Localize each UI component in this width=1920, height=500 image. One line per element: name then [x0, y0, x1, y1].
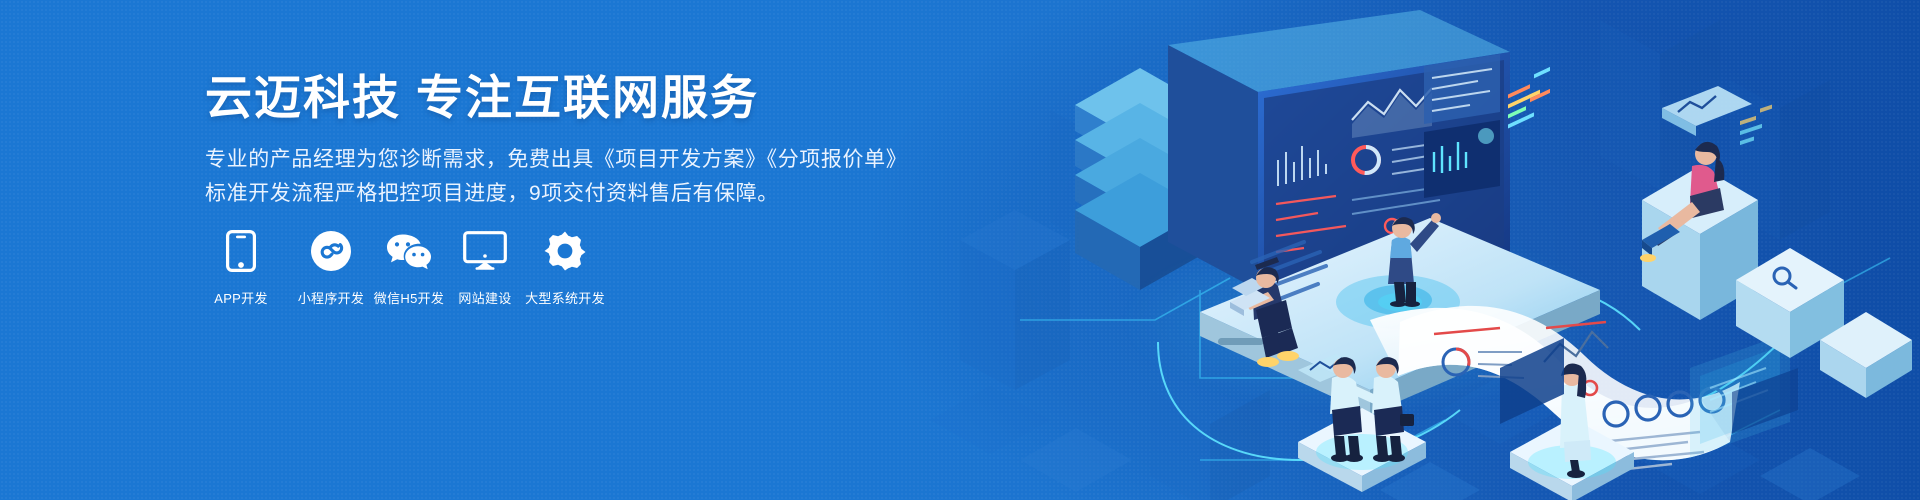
hero-illustration	[900, 0, 1920, 500]
subtitle-line-2: 标准开发流程严格把控项目进度，9项交付资料售后有保障。	[205, 177, 905, 211]
screen-list-card	[1424, 54, 1500, 124]
service-label: 微信H5开发	[374, 288, 444, 307]
service-item-wechat[interactable]: 微信H5开发	[373, 228, 445, 307]
mobile-phone-icon	[226, 228, 256, 274]
service-item-app[interactable]: APP开发	[205, 228, 277, 307]
hero-banner: 云迈科技 专注互联网服务 专业的产品经理为您诊断需求，免费出具《项目开发方案》《…	[0, 0, 1920, 500]
gear-icon	[544, 228, 586, 274]
service-item-miniprogram[interactable]: 小程序开发	[295, 228, 367, 307]
screen-highlight-card	[1424, 120, 1500, 198]
wechat-icon	[384, 228, 434, 274]
mini-program-icon	[310, 228, 352, 274]
service-label: APP开发	[214, 288, 268, 307]
service-label: 网站建设	[458, 288, 511, 307]
service-label: 大型系统开发	[525, 288, 605, 307]
hero-copy: 云迈科技 专注互联网服务 专业的产品经理为您诊断需求，免费出具《项目开发方案》《…	[205, 0, 925, 500]
monitor-icon	[463, 228, 507, 274]
service-label: 小程序开发	[298, 288, 365, 307]
subtitle-line-1: 专业的产品经理为您诊断需求，免费出具《项目开发方案》《分项报价单》	[205, 143, 905, 177]
hero-subtitle: 专业的产品经理为您诊断需求，免费出具《项目开发方案》《分项报价单》 标准开发流程…	[205, 143, 905, 211]
service-list: APP开发 小程序开发	[205, 228, 601, 307]
service-item-large-system[interactable]: 大型系统开发	[529, 228, 601, 307]
service-item-website[interactable]: 网站建设	[449, 228, 521, 307]
page-title: 云迈科技 专注互联网服务	[205, 72, 759, 125]
